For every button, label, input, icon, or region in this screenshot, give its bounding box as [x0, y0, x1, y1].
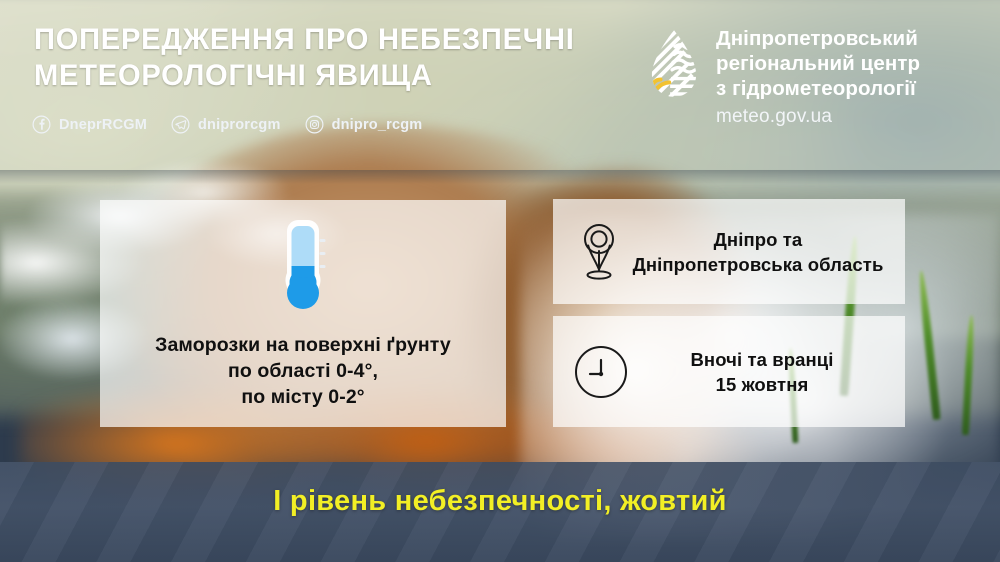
- danger-level-text: I рівень небезпечності, жовтий: [0, 483, 1000, 519]
- organisation-name-line-3: з гідрометеорології: [716, 77, 916, 100]
- header-band: ПОПЕРЕДЖЕННЯ ПРО НЕБЕЗПЕЧНІ МЕТЕОРОЛОГІЧ…: [0, 0, 1000, 170]
- time-card: Вночі та вранці 15 жовтня: [553, 316, 905, 427]
- social-links: DneprRCGM dniprorcgm dnipro_rcgm: [32, 115, 422, 134]
- social-link-facebook[interactable]: DneprRCGM: [32, 115, 147, 134]
- location-card: Дніпро та Дніпропетровська область: [553, 199, 905, 304]
- water-droplet-logo-icon: [646, 28, 702, 104]
- organisation-name-line-1: Дніпропетровський: [716, 27, 918, 50]
- warning-text: Заморозки на поверхні ґрунту по області …: [155, 332, 451, 410]
- thermometer-icon: [274, 214, 332, 326]
- social-label-instagram: dnipro_rcgm: [332, 117, 423, 133]
- organisation-name-line-2: регіональний центр: [716, 52, 920, 75]
- facebook-icon: [32, 115, 51, 134]
- warning-card: Заморозки на поверхні ґрунту по області …: [100, 200, 506, 427]
- social-link-instagram[interactable]: dnipro_rcgm: [305, 115, 423, 134]
- page-title: ПОПЕРЕДЖЕННЯ ПРО НЕБЕЗПЕЧНІ МЕТЕОРОЛОГІЧ…: [34, 22, 616, 94]
- social-label-telegram: dniprorcgm: [198, 117, 281, 133]
- instagram-icon: [305, 115, 324, 134]
- page-title-line-1: ПОПЕРЕДЖЕННЯ ПРО НЕБЕЗПЕЧНІ: [34, 22, 616, 58]
- map-pin-icon: [577, 221, 621, 283]
- time-text: Вночі та вранці 15 жовтня: [629, 347, 889, 397]
- location-text: Дніпро та Дніпропетровська область: [621, 227, 889, 277]
- page-title-line-2: МЕТЕОРОЛОГІЧНІ ЯВИЩА: [34, 58, 616, 94]
- organisation-website[interactable]: meteo.gov.ua: [716, 104, 920, 129]
- telegram-icon: [171, 115, 190, 134]
- social-label-facebook: DneprRCGM: [59, 117, 147, 133]
- weather-warning-poster: ПОПЕРЕДЖЕННЯ ПРО НЕБЕЗПЕЧНІ МЕТЕОРОЛОГІЧ…: [0, 0, 1000, 562]
- organisation-logo[interactable]: Дніпропетровський регіональний центр з г…: [646, 26, 920, 129]
- clock-icon: [573, 344, 629, 400]
- social-link-telegram[interactable]: dniprorcgm: [171, 115, 281, 134]
- organisation-name: Дніпропетровський регіональний центр з г…: [716, 26, 920, 129]
